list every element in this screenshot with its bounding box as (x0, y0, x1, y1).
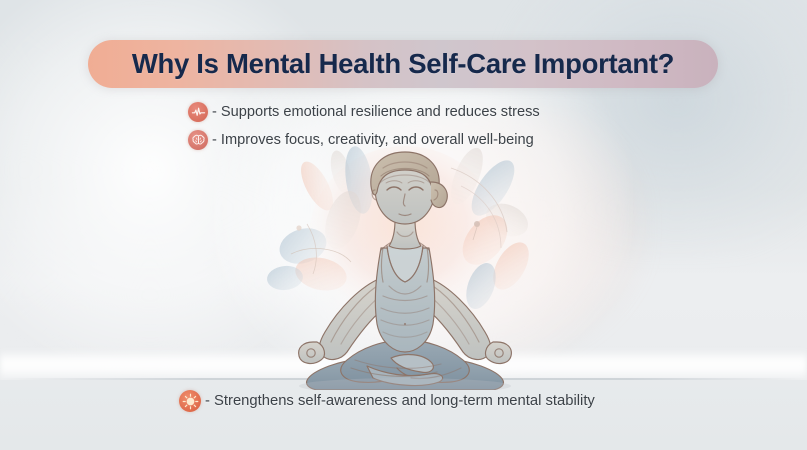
page-title: Why Is Mental Health Self-Care Important… (132, 48, 674, 80)
list-item: - Supports emotional resilience and redu… (188, 99, 540, 125)
list-item-label: - Strengthens self-awareness and long-te… (205, 393, 595, 409)
list-item-label: - Supports emotional resilience and redu… (212, 104, 540, 120)
list-item: - Strengthens self-awareness and long-te… (179, 388, 595, 414)
heartbeat-pulse-icon (188, 102, 208, 122)
meditating-person-illustration (255, 128, 555, 390)
list-item-label: - Improves focus, creativity, and overal… (212, 132, 534, 148)
brain-icon (188, 130, 208, 150)
sun-burst-icon (179, 390, 201, 412)
bullet-list-top: - Supports emotional resilience and redu… (188, 99, 540, 155)
title-pill: Why Is Mental Health Self-Care Important… (88, 40, 718, 88)
list-item: - Improves focus, creativity, and overal… (188, 127, 540, 153)
slide-canvas: Why Is Mental Health Self-Care Important… (0, 0, 807, 450)
